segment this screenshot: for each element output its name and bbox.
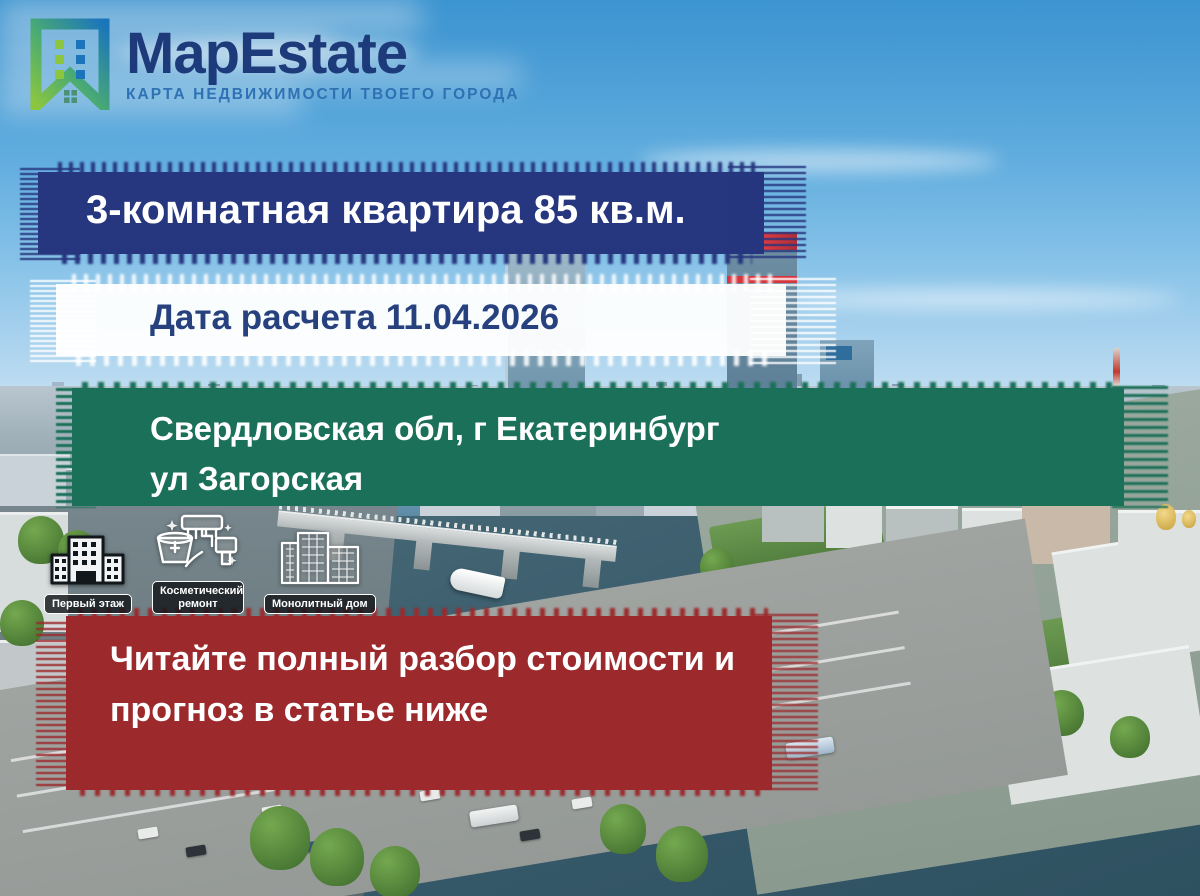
page-title: 3-комнатная квартира 85 кв.м.	[38, 160, 764, 234]
address-line-2: ул Загорская	[72, 454, 1124, 504]
apartment-building-icon	[48, 529, 128, 592]
paint-roller-bucket-brush-icon	[152, 512, 244, 579]
badge-label-cosmetic-renovation: Косметический ремонт	[152, 581, 244, 614]
address-band: Свердловская обл, г Екатеринбург ул Заго…	[72, 382, 1124, 510]
badge-monolithic-house[interactable]: Монолитный дом	[264, 529, 376, 615]
brand-wordmark: MapEstate	[126, 24, 520, 83]
brand-tagline: КАРТА НЕДВИЖИМОСТИ ТВОЕГО ГОРОДА	[126, 86, 520, 104]
calculation-date-text: Дата расчета 11.04.2026	[56, 270, 786, 339]
monolithic-building-icon	[278, 529, 362, 592]
church-dome	[1182, 510, 1196, 528]
property-title-band: 3-комнатная квартира 85 кв.м.	[38, 160, 764, 266]
badge-label-first-floor: Первый этаж	[44, 594, 132, 615]
cta-band[interactable]: Читайте полный разбор стоимости и прогно…	[52, 608, 792, 798]
calculation-date-band: Дата расчета 11.04.2026	[56, 270, 786, 368]
property-promo-poster: MapEstate КАРТА НЕДВИЖИМОСТИ ТВОЕГО ГОРО…	[0, 0, 1200, 896]
feature-badges: Первый этаж	[44, 512, 376, 614]
cta-text: Читайте полный разбор стоимости и прогно…	[52, 608, 792, 736]
badge-label-monolithic-house: Монолитный дом	[264, 594, 376, 615]
address-line-1: Свердловская обл, г Екатеринбург	[72, 382, 1124, 454]
badge-first-floor[interactable]: Первый этаж	[44, 529, 132, 615]
bookmark-building-icon	[28, 18, 112, 110]
brand-logo[interactable]: MapEstate КАРТА НЕДВИЖИМОСТИ ТВОЕГО ГОРО…	[28, 18, 520, 110]
badge-cosmetic-renovation[interactable]: Косметический ремонт	[152, 512, 244, 614]
